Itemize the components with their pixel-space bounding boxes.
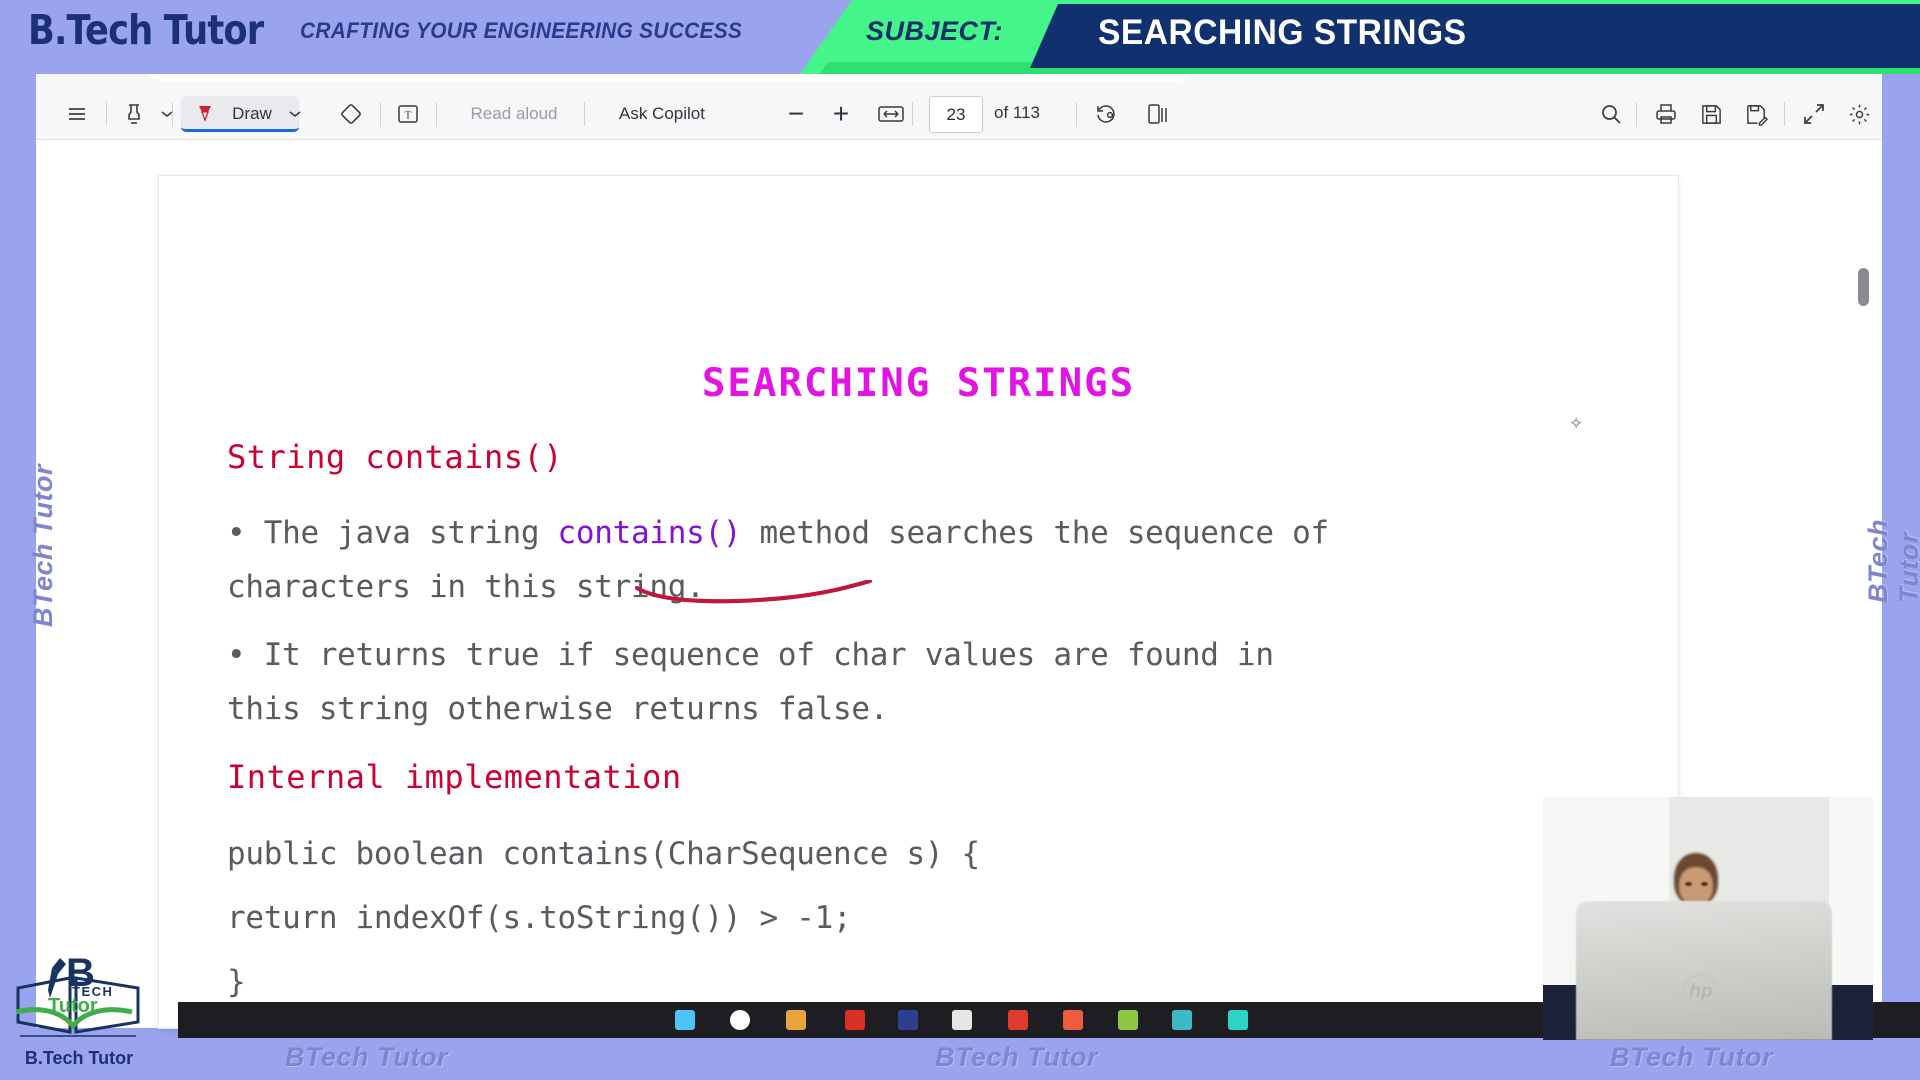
toolbar-divider [1636, 102, 1637, 126]
banner-subject-title: SEARCHING STRINGS [1098, 13, 1466, 53]
presenter-eye [1685, 882, 1692, 886]
page-total-label: of 113 [994, 103, 1040, 123]
logo-caption: B.Tech Tutor [14, 1048, 144, 1069]
watermark-right: BTech Tutor [1863, 519, 1920, 603]
taskbar-app-icon[interactable] [1228, 1010, 1248, 1030]
toolbar-divider [584, 102, 585, 126]
toolbar-divider [436, 102, 437, 126]
toolbar-divider [172, 102, 173, 126]
banner-brand-logo: B.Tech Tutor [28, 6, 263, 54]
print-icon[interactable] [1646, 88, 1686, 140]
presenter-eye [1701, 882, 1708, 886]
save-as-icon[interactable] [1736, 88, 1776, 140]
search-icon[interactable] [1591, 88, 1631, 140]
banner-tagline: CRAFTING YOUR ENGINEERING SUCCESS [300, 18, 742, 44]
taskbar-app-icon[interactable] [898, 1010, 918, 1030]
ask-copilot-button[interactable]: Ask Copilot [594, 88, 730, 140]
page-layout-icon[interactable] [1140, 88, 1176, 140]
bullet-1-text-a: • The java string [227, 515, 558, 551]
laptop-lid [1576, 901, 1832, 1040]
taskbar-app-icon[interactable] [786, 1010, 806, 1030]
hp-logo-icon: hp [1682, 973, 1720, 1011]
pdf-toolbar: Draw T Read aloud Ask Copilot − + [36, 88, 1882, 140]
toolbar-divider [1076, 102, 1077, 126]
draw-chevron-down-icon[interactable] [284, 88, 306, 140]
taskbar-app-icon[interactable] [1172, 1010, 1192, 1030]
slide-title: SEARCHING STRINGS [159, 361, 1678, 406]
ink-annotation-underline [634, 580, 874, 608]
hamburger-menu-icon[interactable] [60, 88, 94, 140]
bullet-2-line-2: this string otherwise returns false. [227, 682, 1627, 736]
toolbar-divider [1784, 102, 1785, 126]
taskbar-app-icon[interactable] [1118, 1010, 1138, 1030]
watermark-bottom: BTech Tutor [935, 1042, 1098, 1073]
video-title-banner: B.Tech Tutor CRAFTING YOUR ENGINEERING S… [0, 0, 1920, 74]
draw-tool-label[interactable]: Draw [224, 88, 280, 140]
section-heading-string-contains: String contains() [227, 438, 563, 476]
zoom-in-button[interactable]: + [821, 88, 861, 140]
webcam-overlay: hp [1543, 797, 1873, 1040]
read-aloud-button[interactable]: Read aloud [448, 88, 580, 140]
zoom-out-button[interactable]: − [776, 88, 816, 140]
highlighter-chevron-down-icon[interactable] [154, 88, 180, 140]
add-text-icon[interactable]: T [391, 88, 425, 140]
watermark-left: BTech Tutor [28, 464, 59, 627]
page-number-input[interactable]: 23 [929, 96, 983, 133]
taskbar-app-icon[interactable] [1008, 1010, 1028, 1030]
rotate-icon[interactable] [1088, 88, 1124, 140]
svg-text:Tutor: Tutor [48, 995, 98, 1017]
toolbar-divider [106, 102, 107, 126]
taskbar-app-icon[interactable] [730, 1010, 750, 1030]
scrollbar-thumb[interactable] [1858, 268, 1869, 306]
highlighter-icon[interactable] [116, 88, 152, 140]
watermark-bottom: BTech Tutor [285, 1042, 448, 1073]
watermark-bottom: BTech Tutor [1610, 1042, 1773, 1073]
toolbar-divider [380, 102, 381, 126]
eraser-icon[interactable] [334, 88, 368, 140]
bullet-1: • The java string contains() method sear… [227, 506, 1627, 560]
code-line-2: return indexOf(s.toString()) > -1; [227, 900, 851, 936]
screen: mail.google.com/mail/u/0/?tab=rm&ogbl#in… [0, 0, 1920, 1080]
bullet-1-line-2: characters in this string. [227, 560, 1627, 614]
bullet-1-text-b: method searches the sequence of [741, 515, 1329, 551]
svg-text:T: T [405, 110, 412, 122]
taskbar-app-icon[interactable] [952, 1010, 972, 1030]
cursor-marker-icon: ✧ [1569, 414, 1583, 434]
pdf-page: SEARCHING STRINGS ✧ String contains() • … [159, 176, 1678, 1028]
fit-to-width-icon[interactable] [871, 88, 911, 140]
section-heading-internal-implementation: Internal implementation [227, 758, 682, 796]
save-icon[interactable] [1691, 88, 1731, 140]
code-line-3: } [227, 964, 245, 1000]
fullscreen-icon[interactable] [1794, 88, 1834, 140]
gear-icon[interactable] [1839, 88, 1879, 140]
taskbar-app-icon[interactable] [845, 1010, 865, 1030]
bullet-2: • It returns true if sequence of char va… [227, 628, 1627, 682]
taskbar-app-icon[interactable] [1063, 1010, 1083, 1030]
code-line-1: public boolean contains(CharSequence s) … [227, 836, 980, 872]
webcam-background [1829, 797, 1873, 997]
toolbar-divider [912, 102, 913, 126]
btech-tutor-logo: B TECH Tutor B.Tech Tutor [8, 940, 148, 1070]
logo-book-icon: B TECH Tutor [8, 940, 148, 1050]
pen-icon[interactable] [191, 88, 219, 140]
bullet-1-keyword: contains() [558, 515, 742, 551]
banner-subject-label: SUBJECT: [866, 16, 1003, 47]
taskbar-app-icon[interactable] [675, 1010, 695, 1030]
